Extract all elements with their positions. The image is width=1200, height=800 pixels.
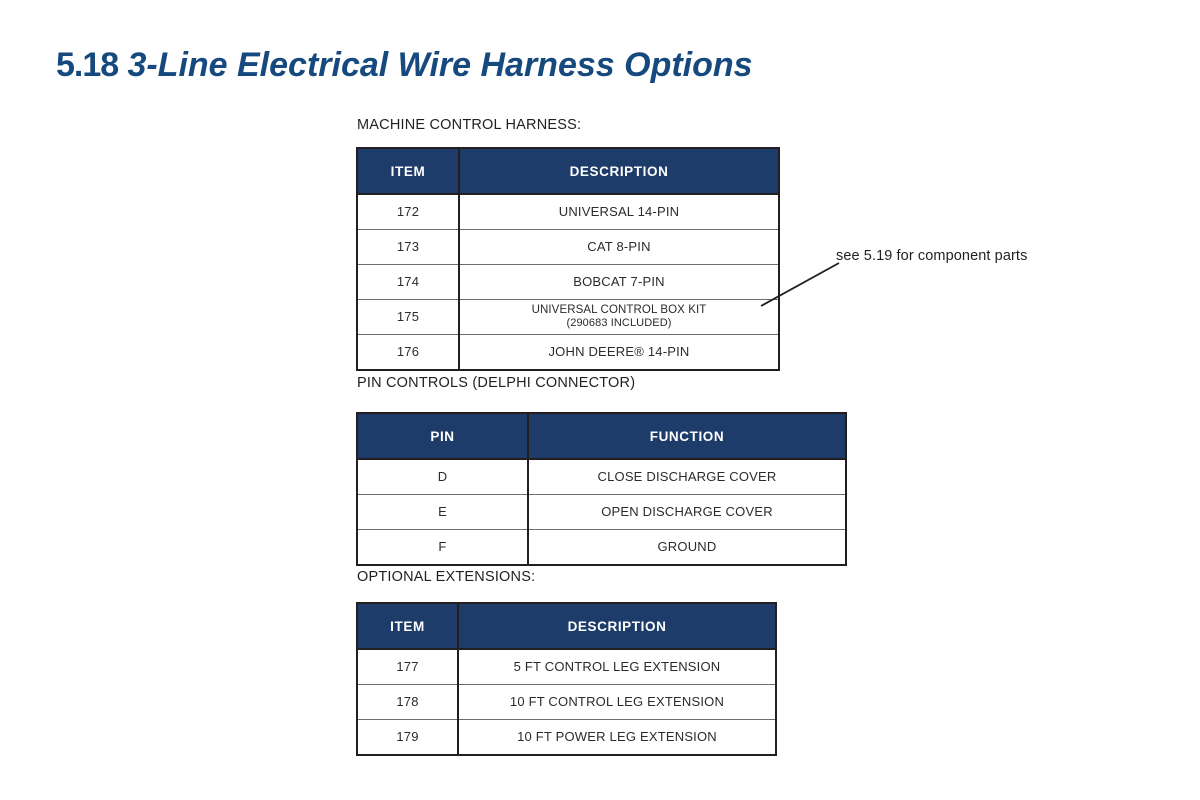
cell-description: 5 FT CONTROL LEG EXTENSION bbox=[458, 649, 776, 685]
section-caption-machine-control-harness: MACHINE CONTROL HARNESS: bbox=[357, 117, 581, 133]
cell-pin: E bbox=[357, 495, 528, 530]
page-title: 5.18 3-Line Electrical Wire Harness Opti… bbox=[56, 46, 753, 85]
table-optional-extensions: ITEM DESCRIPTION 177 5 FT CONTROL LEG EX… bbox=[356, 602, 777, 756]
table-machine-control-harness: ITEM DESCRIPTION 172 UNIVERSAL 14-PIN 17… bbox=[356, 147, 780, 371]
section-caption-pin-controls: PIN CONTROLS (DELPHI CONNECTOR) bbox=[357, 375, 635, 391]
page-title-number: 5.18 bbox=[56, 46, 118, 84]
cell-item: 177 bbox=[357, 649, 458, 685]
cell-function: CLOSE DISCHARGE COVER bbox=[528, 459, 846, 495]
cell-function: GROUND bbox=[528, 530, 846, 566]
cell-item: 175 bbox=[357, 300, 459, 335]
cell-description: 10 FT CONTROL LEG EXTENSION bbox=[458, 685, 776, 720]
table-row: 178 10 FT CONTROL LEG EXTENSION bbox=[357, 685, 776, 720]
table-row: F GROUND bbox=[357, 530, 846, 566]
table-header-row: ITEM DESCRIPTION bbox=[357, 603, 776, 649]
column-header-pin: PIN bbox=[357, 413, 528, 459]
table-row: D CLOSE DISCHARGE COVER bbox=[357, 459, 846, 495]
column-header-function: FUNCTION bbox=[528, 413, 846, 459]
table-row: E OPEN DISCHARGE COVER bbox=[357, 495, 846, 530]
table-row: 179 10 FT POWER LEG EXTENSION bbox=[357, 720, 776, 756]
cell-description: BOBCAT 7-PIN bbox=[459, 265, 779, 300]
cell-description: JOHN DEERE® 14-PIN bbox=[459, 335, 779, 371]
section-caption-optional-extensions: OPTIONAL EXTENSIONS: bbox=[357, 569, 535, 585]
cell-item: 173 bbox=[357, 230, 459, 265]
table-header-row: ITEM DESCRIPTION bbox=[357, 148, 779, 194]
column-header-item: ITEM bbox=[357, 603, 458, 649]
table-pin-controls: PIN FUNCTION D CLOSE DISCHARGE COVER E O… bbox=[356, 412, 847, 566]
table-row: 172 UNIVERSAL 14-PIN bbox=[357, 194, 779, 230]
cell-description: UNIVERSAL 14-PIN bbox=[459, 194, 779, 230]
table-header-row: PIN FUNCTION bbox=[357, 413, 846, 459]
page-title-name: 3-Line Electrical Wire Harness Options bbox=[127, 46, 752, 84]
cell-item: 176 bbox=[357, 335, 459, 371]
cell-description: 10 FT POWER LEG EXTENSION bbox=[458, 720, 776, 756]
callout-leader-line bbox=[760, 262, 840, 312]
cell-description-sub: (290683 INCLUDED) bbox=[464, 317, 774, 330]
table-row: 173 CAT 8-PIN bbox=[357, 230, 779, 265]
cell-pin: F bbox=[357, 530, 528, 566]
cell-item: 172 bbox=[357, 194, 459, 230]
cell-description: CAT 8-PIN bbox=[459, 230, 779, 265]
table-row: 174 BOBCAT 7-PIN bbox=[357, 265, 779, 300]
table-row: 176 JOHN DEERE® 14-PIN bbox=[357, 335, 779, 371]
table-row: 177 5 FT CONTROL LEG EXTENSION bbox=[357, 649, 776, 685]
cell-item: 178 bbox=[357, 685, 458, 720]
cell-pin: D bbox=[357, 459, 528, 495]
cell-item: 174 bbox=[357, 265, 459, 300]
cell-item: 179 bbox=[357, 720, 458, 756]
column-header-description: DESCRIPTION bbox=[459, 148, 779, 194]
cell-description: UNIVERSAL CONTROL BOX KIT (290683 INCLUD… bbox=[459, 300, 779, 335]
column-header-item: ITEM bbox=[357, 148, 459, 194]
table-row: 175 UNIVERSAL CONTROL BOX KIT (290683 IN… bbox=[357, 300, 779, 335]
callout-label: see 5.19 for component parts bbox=[836, 248, 1027, 264]
cell-function: OPEN DISCHARGE COVER bbox=[528, 495, 846, 530]
cell-description-main: UNIVERSAL CONTROL BOX KIT bbox=[464, 304, 774, 317]
column-header-description: DESCRIPTION bbox=[458, 603, 776, 649]
